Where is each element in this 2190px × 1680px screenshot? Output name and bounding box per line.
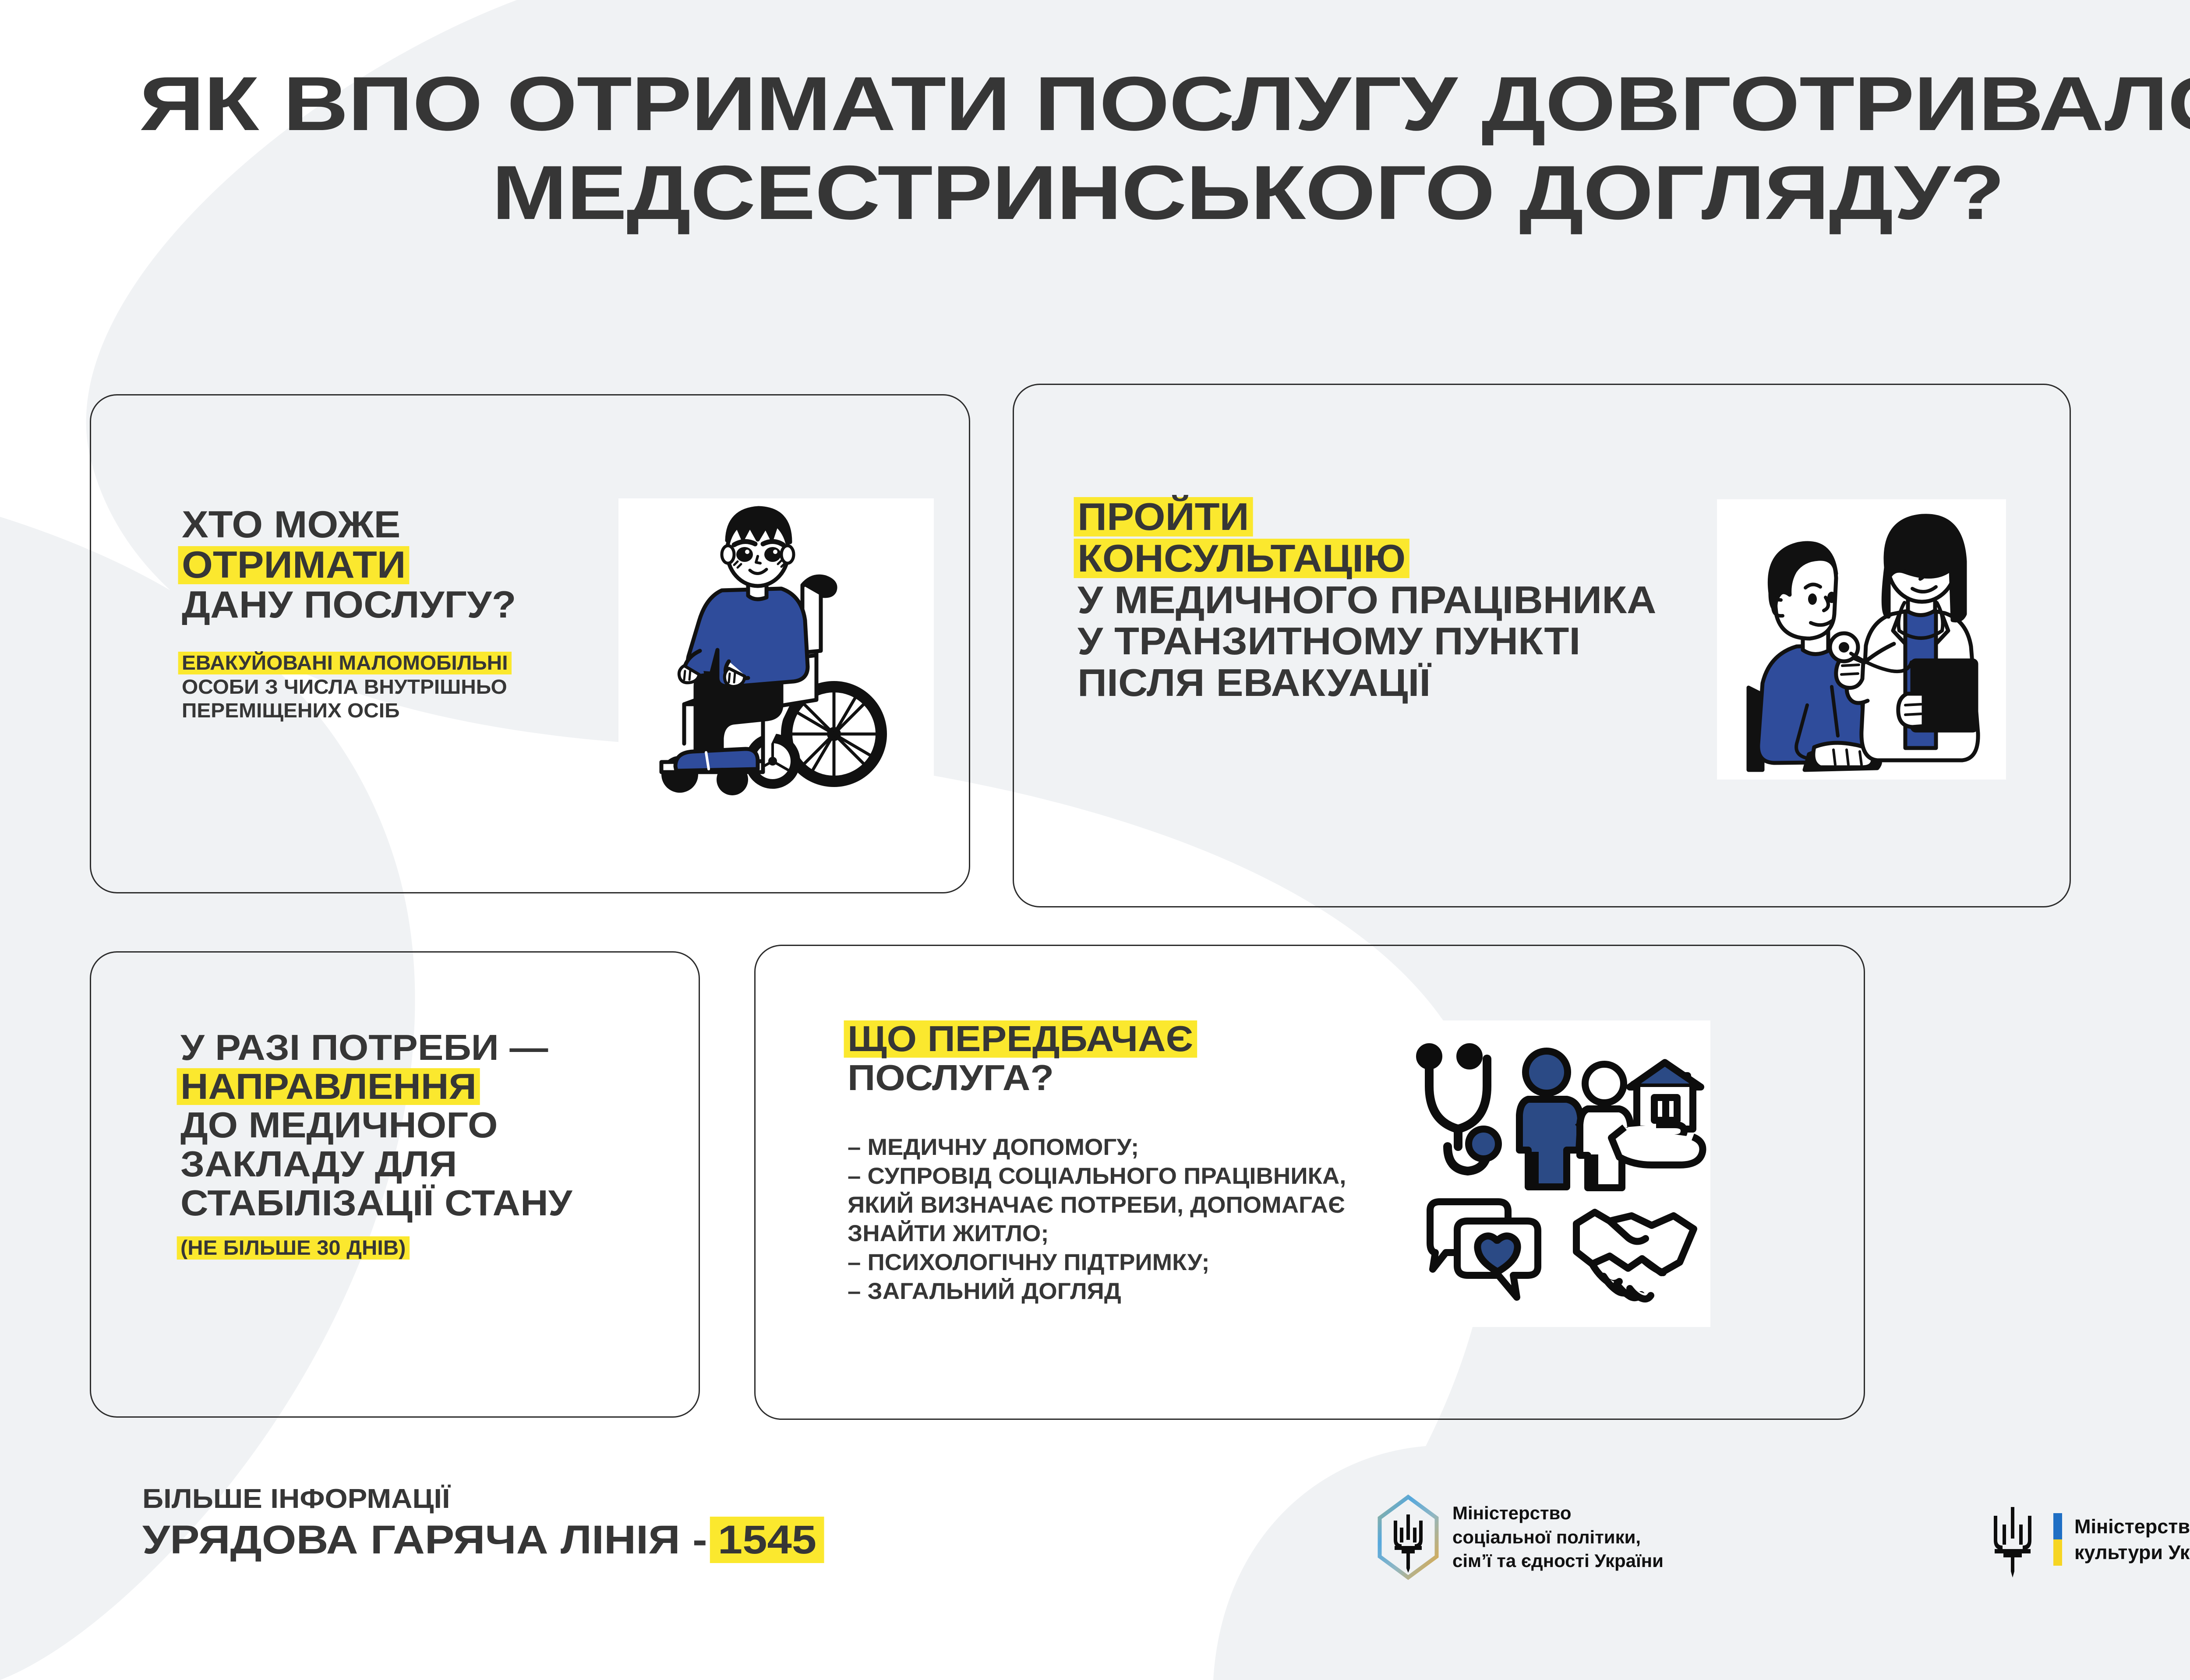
doctor-examining-patient-illustration [1717,499,2006,780]
logo-line-2: культури України [2074,1539,2190,1565]
trident-icon [1984,1500,2041,1579]
ministry-of-social-policy-name: Міністерство соціальної політики, сім’ї … [1452,1501,1664,1573]
trident-hexagon-icon [1375,1493,1441,1581]
handshake-icon [1576,1212,1694,1299]
card-1-title: ХТО МОЖЕ ОТРИМАТИ ДАНУ ПОСЛУГУ? [182,506,518,625]
card-2-title-line-3: У МЕДИЧНОГО ПРАЦІВНИКА [1077,580,1657,620]
list-item: – ПСИХОЛОГІЧНУ ПІДТРИМКУ; [848,1248,1346,1277]
card-1-sub-line-2: ОСОБИ З ЧИСЛА ВНУТРІШНЬО [182,676,512,699]
card-1-sub-line-3: ПЕРЕМІЩЕНИХ ОСІБ [182,699,512,722]
card-3-title-line-5: СТАБІЛІЗАЦІЇ СТАНУ [180,1185,572,1222]
card-3-title: У РАЗІ ПОТРЕБИ — НАПРАВЛЕННЯ ДО МЕДИЧНОГ… [180,1029,572,1221]
ministry-of-culture-name: Міністерство культури України [2074,1514,2190,1566]
card-3-title-line-1: У РАЗІ ПОТРЕБИ — [180,1029,572,1066]
ministry-of-culture-logo: Міністерство культури України [1984,1500,2190,1579]
card-1-sub-line-1: ЕВАКУЙОВАНІ МАЛОМОБІЛЬНІ [182,652,512,674]
more-info-label: БІЛЬШЕ ІНФОРМАЦІЇ [142,1486,812,1513]
card-4-text-block: ЩО ПЕРЕДБАЧАЄ ПОСЛУГА? – МЕДИЧНУ ДОПОМОГ… [848,1020,1332,1306]
card-3-title-line-4: ЗАКЛАДУ ДЛЯ [180,1146,572,1183]
ministry-of-social-policy-logo: Міністерство соціальної політики, сім’ї … [1375,1493,1664,1581]
card-2-text-block: ПРОЙТИ КОНСУЛЬТАЦІЮ У МЕДИЧНОГО ПРАЦІВНИ… [1077,497,1624,702]
hotline-number: 1545 [710,1517,824,1563]
list-item: – МЕДИЧНУ ДОПОМОГУ; [848,1133,1346,1162]
footer-contact-block: БІЛЬШЕ ІНФОРМАЦІЇ УРЯДОВА ГАРЯЧА ЛІНІЯ -… [142,1486,762,1560]
card-1-subtitle: ЕВАКУЙОВАНІ МАЛОМОБІЛЬНІ ОСОБИ З ЧИСЛА В… [182,652,512,722]
list-item: ЗНАЙТИ ЖИТЛО; [848,1219,1346,1248]
card-3-title-line-2: НАПРАВЛЕННЯ [180,1068,572,1105]
service-icons-panel [1404,1020,1710,1327]
logo-line-3: сім’ї та єдності України [1452,1549,1664,1573]
card-3-title-line-3: ДО МЕДИЧНОГО [180,1107,572,1144]
card-4-title-line-2: ПОСЛУГА? [848,1059,1361,1097]
card-3-sub-line-1: (НЕ БІЛЬШЕ 30 ДНІВ) [180,1236,565,1260]
two-people-support-icon [1519,1051,1631,1188]
ukraine-flag-bar-icon [2052,1513,2063,1566]
logo-line-2: соціальної політики, [1452,1525,1664,1549]
card-2-title-line-4: У ТРАНЗИТНОМУ ПУНКТІ [1077,621,1657,661]
card-2-title-line-2: КОНСУЛЬТАЦІЮ [1077,539,1657,578]
card-3-subtitle: (НЕ БІЛЬШЕ 30 ДНІВ) [180,1236,565,1260]
logo-line-1: Міністерство [1452,1501,1664,1525]
title-line-1: ЯК ВПО ОТРИМАТИ ПОСЛУГУ ДОВГОТРИВАЛОГО [0,66,2190,142]
card-4-service-list: – МЕДИЧНУ ДОПОМОГУ; – СУПРОВІД СОЦІАЛЬНО… [848,1133,1346,1306]
logo-line-1: Міністерство [2074,1514,2190,1539]
person-in-wheelchair-illustration [618,498,934,796]
card-2-title-line-1: ПРОЙТИ [1077,497,1657,536]
card-1-title-line-1: ХТО МОЖЕ [182,506,518,544]
card-1-title-line-2: ОТРИМАТИ [182,546,518,585]
card-1-title-line-3: ДАНУ ПОСЛУГУ? [182,586,518,625]
hotline-label: УРЯДОВА ГАРЯЧА ЛІНІЯ - [142,1518,707,1562]
list-item: ЯКИЙ ВИЗНАЧАЄ ПОТРЕБИ, ДОПОМАГАЄ [848,1191,1346,1220]
hotline-line: УРЯДОВА ГАРЯЧА ЛІНІЯ -1545 [142,1520,824,1560]
list-item: – СУПРОВІД СОЦІАЛЬНОГО ПРАЦІВНИКА, [848,1162,1346,1191]
chat-bubbles-heart-icon [1430,1202,1538,1297]
card-4-title: ЩО ПЕРЕДБАЧАЄ ПОСЛУГА? [848,1020,1361,1096]
list-item: – ЗАГАЛЬНИЙ ДОГЛЯД [848,1277,1346,1306]
card-2-title: ПРОЙТИ КОНСУЛЬТАЦІЮ У МЕДИЧНОГО ПРАЦІВНИ… [1077,497,1657,702]
title-line-2: МЕДСЕСТРИНСЬКОГО ДОГЛЯДУ? [0,155,2190,231]
card-3-text-block: У РАЗІ ПОТРЕБИ — НАПРАВЛЕННЯ ДО МЕДИЧНОГ… [180,1029,550,1260]
card-4-title-line-1: ЩО ПЕРЕДБАЧАЄ [848,1020,1361,1058]
page-title: ЯК ВПО ОТРИМАТИ ПОСЛУГУ ДОВГОТРИВАЛОГО М… [0,66,2190,231]
card-2-title-line-5: ПІСЛЯ ЕВАКУАЦІЇ [1077,663,1657,702]
card-1-text-block: ХТО МОЖЕ ОТРИМАТИ ДАНУ ПОСЛУГУ? ЕВАКУЙОВ… [182,506,499,722]
